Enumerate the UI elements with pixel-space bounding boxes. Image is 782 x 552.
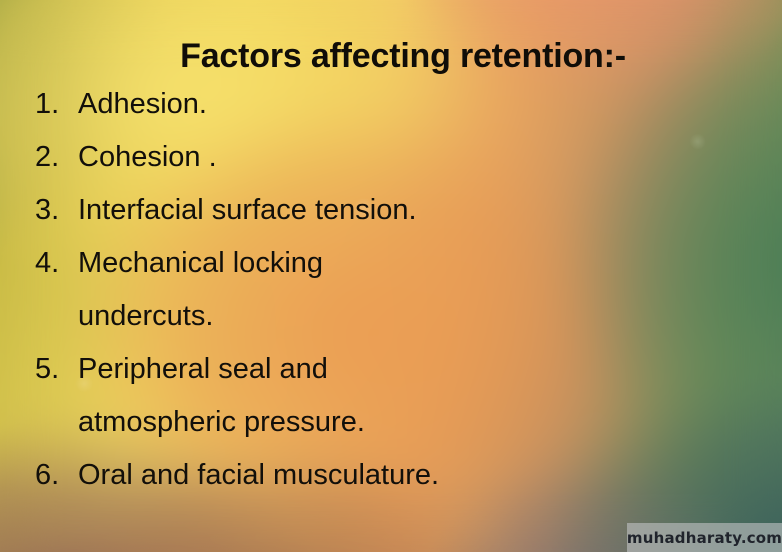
list-item: 4. Mechanical locking undercuts. (30, 237, 590, 343)
list-item-label: Adhesion. (78, 78, 408, 131)
list-item-label: Mechanical locking undercuts. (78, 237, 408, 343)
presentation-slide: Factors affecting retention:- 1. Adhesio… (0, 0, 782, 552)
list-item-number: 1. (30, 78, 78, 131)
list-item-label: Peripheral seal and atmospheric pressure… (78, 343, 408, 449)
list-item: 3. Interfacial surface tension. (30, 184, 590, 237)
factors-list: 1. Adhesion. 2. Cohesion . 3. Interfacia… (30, 78, 590, 502)
list-item-number: 3. (30, 184, 78, 237)
watermark-label: muhadharaty.com (627, 529, 782, 547)
list-item-number: 5. (30, 343, 78, 396)
list-item-label: Oral and facial musculature. (78, 449, 548, 502)
slide-content: Factors affecting retention:- 1. Adhesio… (0, 0, 782, 552)
list-item: 5. Peripheral seal and atmospheric press… (30, 343, 590, 449)
list-item-number: 2. (30, 131, 78, 184)
slide-title: Factors affecting retention:- (0, 37, 782, 76)
list-item-number: 4. (30, 237, 78, 290)
list-item-number: 6. (30, 449, 78, 502)
watermark-badge: muhadharaty.com (627, 523, 782, 552)
list-item: 2. Cohesion . (30, 131, 590, 184)
list-item: 1. Adhesion. (30, 78, 590, 131)
list-item-label: Cohesion . (78, 131, 408, 184)
list-item: 6. Oral and facial musculature. (30, 449, 590, 502)
list-item-label: Interfacial surface tension. (78, 184, 548, 237)
